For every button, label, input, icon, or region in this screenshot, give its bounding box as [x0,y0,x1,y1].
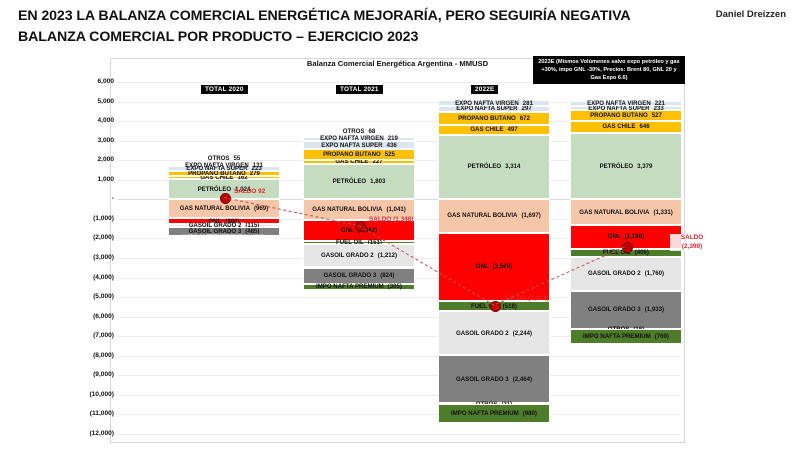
chart-column-2023e[interactable]: PETRÓLEO3,379GAS CHILE646PROPANO BUTANO5… [570,82,682,434]
segment-label: PROPANO BUTANO672 [458,115,530,122]
chart-column-2022e[interactable]: PETRÓLEO3,314GAS CHILE497PROPANO BUTANO6… [438,82,550,434]
y-axis-tick: (7,000) [68,332,114,339]
segment-label: GASOIL GRADO 3(824) [324,272,395,279]
column-header-total-2021: TOTAL 2021 [335,84,384,95]
segment-expo-nafta-super[interactable]: EXPO NAFTA SUPER297 [438,106,550,112]
assumptions-note: 2023E (Mismos Volúmenes salvo expo petró… [533,56,685,84]
segment-propano-butano[interactable]: PROPANO BUTANO527 [570,110,682,120]
y-axis-tick: 1,000 [68,176,114,183]
segment-label: GAS NATURAL BOLIVIA(1,331) [579,209,673,216]
segment-label: IMPO NAFTA PREMIUM(980) [451,410,537,417]
segment-label: GAS CHILE497 [470,126,517,133]
segment-gasoil-grado-2[interactable]: GASOIL GRADO 2(2,244) [438,311,550,355]
chart-column-total-2021[interactable]: PETRÓLEO1,803GAS CHILE227PROPANO BUTANO5… [303,82,415,434]
segment-label: GAS NATURAL BOLIVIA(969) [180,205,268,212]
segment-propano-butano[interactable]: PROPANO BUTANO279 [168,171,280,176]
y-axis-tick: - [68,195,114,202]
segment-gasoil-grado-3[interactable]: GASOIL GRADO 3(824) [303,268,415,284]
saldo-label: SALDO (5,413) [504,295,548,302]
y-axis-tick: (5,000) [68,293,114,300]
y-axis-tick: (3,000) [68,254,114,261]
saldo-label: SALDO(2,399) [670,234,714,251]
segment-label: IMPO NAFTA PREMIUM(305) [316,283,402,290]
segment-label: GNL(1,190) [608,233,644,240]
y-axis-tick: 2,000 [68,156,114,163]
y-axis-tick: (1,000) [68,215,114,222]
segment-expo-nafta-virgen[interactable]: EXPO NAFTA VIRGEN131 [168,164,280,167]
segment-label: GNL(3,500) [476,263,512,270]
segment-label: EXPO NAFTA SUPER436 [321,142,396,149]
segment-gas-chile[interactable]: GAS CHILE497 [438,125,550,135]
segment-label: PETRÓLEO1,803 [333,178,386,185]
segment-gnl[interactable]: GNL(3,500) [438,233,550,301]
segment-label: GASOIL GRADO 2(1,212) [321,252,397,259]
segment-label: OTROS68 [343,128,375,135]
segment-expo-nafta-super[interactable]: EXPO NAFTA SUPER233 [570,106,682,111]
segment-otros-expo: OTROS68 [303,127,415,136]
segment-impo-nafta-premium[interactable]: IMPO NAFTA PREMIUM(980) [438,404,550,423]
page-title-line1: EN 2023 LA BALANZA COMERCIAL ENERGÉTICA … [18,6,638,27]
segment-gasoil-grado-3[interactable]: GASOIL GRADO 3(1,933) [570,291,682,329]
segment-gasoil-grado-3[interactable]: GASOIL GRADO 3(2,464) [438,355,550,403]
y-axis-tick: (11,000) [68,410,114,417]
segment-label: GAS CHILE646 [602,123,649,130]
y-axis-tick: (12,000) [68,430,114,437]
segment-gas-natural-bolivia[interactable]: GAS NATURAL BOLIVIA(1,331) [570,199,682,225]
segment-gasoil-grado-2[interactable]: GASOIL GRADO 2(1,760) [570,257,682,291]
column-header-total-2020: TOTAL 2020 [200,84,249,95]
saldo-marker[interactable] [355,221,366,232]
y-axis-tick: 5,000 [68,98,114,105]
y-axis-tick: (9,000) [68,371,114,378]
segment-otros-expo: OTROS55 [168,154,280,163]
y-axis-tick: (4,000) [68,274,114,281]
segment-gas-chile[interactable]: GAS CHILE646 [570,121,682,134]
segment-impo-nafta-premium[interactable]: IMPO NAFTA PREMIUM(305) [303,284,415,290]
y-axis-tick: 6,000 [68,78,114,85]
saldo-marker[interactable] [622,242,633,253]
segment-label: PROPANO BUTANO525 [323,151,395,158]
segment-label: IMPO NAFTA PREMIUM(769) [583,333,669,340]
segment-label: PETRÓLEO3,379 [600,163,653,170]
segment-label: OTROS55 [208,155,240,162]
segment-expo-nafta-super[interactable]: EXPO NAFTA SUPER436 [303,141,415,150]
page-title-line2: BALANZA COMERCIAL POR PRODUCTO – EJERCIC… [18,27,638,48]
segment-impo-nafta-premium[interactable]: IMPO NAFTA PREMIUM(59) [168,237,280,239]
y-axis: 6,0005,0004,0003,0002,0001,000-(1,000)(2… [66,82,114,434]
segment-label: GASOIL GRADO 3(485) [189,228,260,235]
segment-gas-chile[interactable]: GAS CHILE162 [168,176,280,179]
segment-label: GASOIL GRADO 2(1,760) [588,270,664,277]
segment-expo-nafta-super[interactable]: EXPO NAFTA SUPER223 [168,166,280,170]
segment-propano-butano[interactable]: PROPANO BUTANO672 [438,112,550,125]
segment-label: PETRÓLEO3,314 [468,163,521,170]
segment-label: EXPO NAFTA SUPER297 [456,105,531,112]
segment-gasoil-grado-3[interactable]: GASOIL GRADO 3(485) [168,227,280,236]
segment-expo-nafta-virgen[interactable]: EXPO NAFTA VIRGEN281 [438,100,550,105]
saldo-label: SALDO 92 [234,188,265,195]
plot-area: PETRÓLEO1,024GAS CHILE162PROPANO BUTANO2… [118,82,680,434]
segment-label: PROPANO BUTANO527 [590,112,662,119]
saldo-marker[interactable] [490,301,501,312]
segment-expo-nafta-virgen[interactable]: EXPO NAFTA VIRGEN221 [570,101,682,105]
segment-label: PROPANO BUTANO279 [188,170,260,177]
segment-gas-chile[interactable]: GAS CHILE227 [303,160,415,164]
segment-gas-natural-bolivia[interactable]: GAS NATURAL BOLIVIA(1,697) [438,199,550,232]
y-axis-tick: (8,000) [68,352,114,359]
y-axis-tick: (6,000) [68,313,114,320]
gridline [118,434,680,435]
segment-impo-nafta-premium[interactable]: IMPO NAFTA PREMIUM(769) [570,329,682,344]
segment-petr-leo[interactable]: PETRÓLEO3,314 [438,135,550,200]
segment-label: GASOIL GRADO 2(2,244) [456,330,532,337]
segment-petr-leo[interactable]: PETRÓLEO3,379 [570,133,682,199]
segment-label: EXPO NAFTA VIRGEN281 [455,100,533,107]
y-axis-tick: (10,000) [68,391,114,398]
y-axis-tick: (2,000) [68,234,114,241]
slide-header: EN 2023 LA BALANZA COMERCIAL ENERGÉTICA … [18,6,638,48]
author-name: Daniel Dreizzen [716,9,786,20]
y-axis-tick: 3,000 [68,137,114,144]
saldo-label: SALDO (1,348) [369,216,413,223]
segment-label: GAS NATURAL BOLIVIA(1,041) [312,206,406,213]
segment-petr-leo[interactable]: PETRÓLEO1,803 [303,164,415,199]
segment-gasoil-grado-2[interactable]: GASOIL GRADO 2(1,212) [303,244,415,268]
chart-column-total-2020[interactable]: PETRÓLEO1,024GAS CHILE162PROPANO BUTANO2… [168,82,280,434]
segment-label: GASOIL GRADO 3(1,933) [588,306,664,313]
segment-expo-nafta-virgen[interactable]: EXPO NAFTA VIRGEN219 [303,137,415,141]
segment-label: GAS NATURAL BOLIVIA(1,697) [447,212,541,219]
segment-label: GASOIL GRADO 3(2,464) [456,376,532,383]
column-header-2022e: 2022E [470,84,499,95]
segment-propano-butano[interactable]: PROPANO BUTANO525 [303,149,415,159]
saldo-marker[interactable] [220,193,231,204]
y-axis-tick: 4,000 [68,117,114,124]
